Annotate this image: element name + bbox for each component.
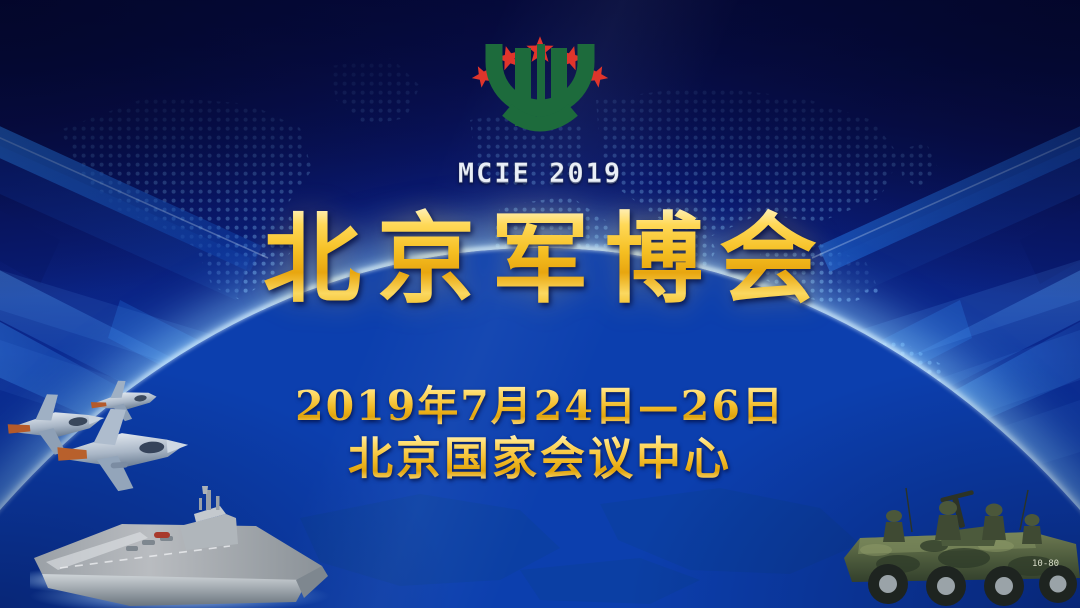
logo-wordmark: MCIE 2019 [430, 158, 650, 189]
poster-canvas: MCIE 2019 北京军博会 2019年7月24日—26日 北京国家会议中心 [0, 0, 1080, 608]
aircraft-carrier-image [30, 484, 330, 608]
event-logo: MCIE 2019 [430, 14, 650, 189]
armored-vehicle-image: 10-80 [836, 486, 1080, 608]
fighter-jets-image [0, 372, 226, 492]
page-title: 北京军博会 [0, 208, 1080, 312]
vehicle-hull-marking: 10-80 [1032, 559, 1059, 569]
mcie-emblem-icon [445, 14, 635, 164]
